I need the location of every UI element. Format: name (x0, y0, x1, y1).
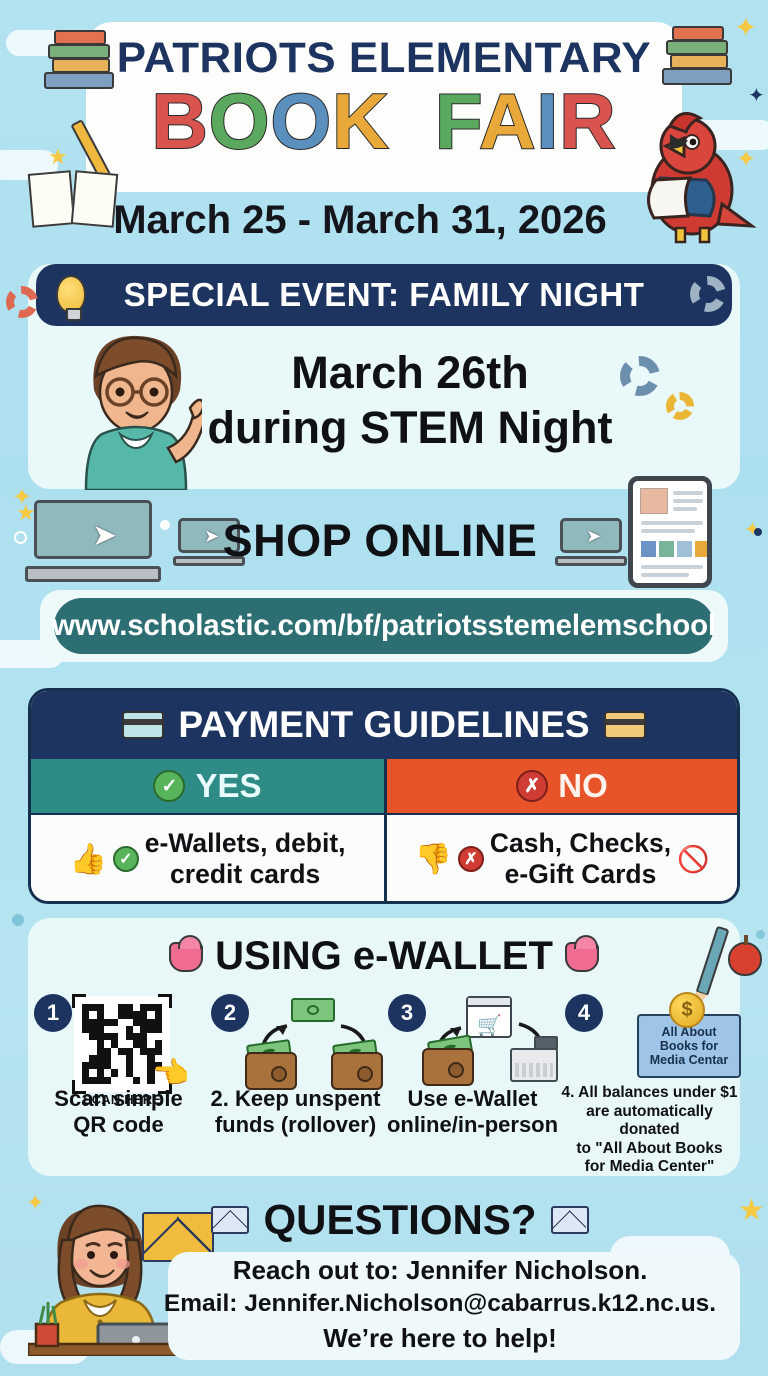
x-circle-icon: ✗ (458, 846, 484, 872)
sparkle-icon: ★ (738, 1196, 765, 1226)
payment-no-column: ✗ NO 👎 ✗ Cash, Checks, e-Gift Cards 🚫 (384, 759, 737, 903)
step-caption: Scan simple QR code (30, 1086, 207, 1138)
contact-line-2[interactable]: Email: Jennifer.Nicholson@cabarrus.k12.n… (150, 1287, 730, 1321)
lightbulb-icon (56, 275, 86, 313)
book-fair-letter: A (479, 77, 536, 165)
shop-url-link[interactable]: www.scholastic.com/bf/patriotsstemelemsc… (54, 598, 714, 654)
payment-guidelines-label: PAYMENT GUIDELINES (178, 704, 589, 746)
book-fair-letter: K (332, 77, 389, 165)
envelope-icon (551, 1206, 589, 1234)
book-fair-letter: F (435, 77, 479, 165)
step-caption: 2. Keep unspent funds (rollover) (207, 1086, 384, 1138)
book-fair-letter: B (151, 77, 208, 165)
wallet-icon (245, 1052, 297, 1090)
gear-icon (620, 356, 660, 396)
book-fair-letter: O (209, 77, 271, 165)
wallet-icon (422, 1048, 474, 1086)
ewallet-title-row: USING e-WALLET (28, 934, 740, 979)
dot-decoration (754, 528, 762, 536)
cardinal-mascot-icon (626, 108, 756, 248)
dot-decoration (12, 914, 24, 926)
step-illustration: $ All About Books for Media Centar (595, 996, 735, 1082)
ewallet-title: USING e-WALLET (215, 934, 553, 979)
credit-card-icon (604, 711, 646, 739)
student-illustration (72, 330, 202, 490)
gear-icon (6, 286, 38, 318)
sparkle-icon: ✦ (748, 86, 765, 106)
wallet-icon (331, 1052, 383, 1090)
ewallet-step: 1 SCAN HERE 👈 Scan simple QR code (30, 994, 207, 1169)
special-event-details: March 26th during STEM Night (190, 345, 630, 455)
envelope-icon (211, 1206, 249, 1234)
special-event-line2: during STEM Night (190, 400, 630, 455)
book-fair-letter (389, 77, 434, 165)
book-fair-letter: O (270, 77, 332, 165)
ewallet-step: 2 2. Keep unspent funds (rollover) (207, 994, 384, 1169)
step-caption: 4. All balances under $1 are automatical… (561, 1084, 738, 1177)
step-caption: Use e-Wallet online/in-person (384, 1086, 561, 1138)
ewallet-step: 4 $ All About Books for Media Centar 4. … (561, 994, 738, 1169)
laptop-icon: ➤ (34, 500, 152, 582)
payment-yes-column: ✓ YES 👍 ✓ e-Wallets, debit, credit cards (31, 759, 384, 903)
dot-decoration (14, 531, 27, 544)
book-fair-title: BOOK FAIR (86, 82, 682, 160)
ewallet-steps: 1 SCAN HERE 👈 Scan simple QR code 2 (30, 994, 738, 1169)
credit-card-icon (122, 711, 164, 739)
tablet-icon (628, 476, 712, 588)
payment-no-label: NO (558, 767, 608, 805)
step-number-badge: 1 (34, 994, 72, 1032)
payment-yes-body: 👍 ✓ e-Wallets, debit, credit cards (31, 815, 384, 903)
dot-decoration (756, 930, 765, 939)
contact-line-3: We’re here to help! (150, 1321, 730, 1355)
purse-icon (169, 942, 203, 972)
coin-icon: $ (669, 992, 705, 1028)
special-event-line1: March 26th (190, 345, 630, 400)
shop-online-title: SHOP ONLINE (180, 515, 580, 567)
book-fair-letter: R (559, 77, 616, 165)
purse-icon (565, 942, 599, 972)
questions-title: QUESTIONS? (263, 1196, 536, 1244)
sparkle-icon: ★ (16, 502, 36, 524)
special-event-label: SPECIAL EVENT: FAMILY NIGHT (124, 276, 645, 314)
payment-yes-items: e-Wallets, debit, credit cards (145, 828, 346, 890)
payment-no-body: 👎 ✗ Cash, Checks, e-Gift Cards 🚫 (387, 815, 737, 903)
online-store-icon: 🛒 (466, 996, 512, 1038)
payment-yes-header: ✓ YES (31, 759, 384, 815)
payment-no-items: Cash, Checks, e-Gift Cards (490, 828, 671, 890)
sparkle-icon: ✦ (734, 14, 757, 42)
page-title: PATRIOTS ELEMENTARY (80, 34, 688, 83)
book-fair-letter: I (537, 77, 560, 165)
cash-register-icon (510, 1048, 558, 1082)
check-circle-icon: ✓ (153, 770, 185, 802)
x-circle-icon: ✗ (516, 770, 548, 802)
payment-yes-label: YES (195, 767, 261, 805)
thumbs-up-icon: 👍 (69, 844, 106, 875)
money-icon (291, 998, 335, 1022)
contact-line-1: Reach out to: Jennifer Nicholson. (150, 1253, 730, 1287)
payment-guidelines-header: PAYMENT GUIDELINES (31, 691, 737, 759)
special-event-band: SPECIAL EVENT: FAMILY NIGHT (36, 264, 732, 326)
payment-guidelines-panel: PAYMENT GUIDELINES ✓ YES 👍 ✓ e-Wallets, … (28, 688, 740, 904)
sparkle-icon: ★ (48, 146, 68, 168)
thumbs-down-icon: 👎 (415, 844, 452, 875)
gear-icon (690, 276, 726, 312)
book-fair-flyer: ✦ ✦ ✦ ★ ✦ ★ ✦ ★ ✦ PATRIOTS ELEMENTARY BO… (0, 0, 768, 1376)
dot-decoration (160, 520, 170, 530)
step-illustration (241, 996, 381, 1082)
fair-dates: March 25 - March 31, 2026 (60, 198, 660, 243)
questions-title-row: QUESTIONS? (150, 1196, 650, 1244)
step-illustration: 🛒 (418, 996, 558, 1082)
questions-contact: Reach out to: Jennifer Nicholson. Email:… (150, 1253, 730, 1355)
payment-no-header: ✗ NO (387, 759, 737, 815)
gear-icon (666, 392, 694, 420)
no-gift-card-icon: 🚫 (677, 844, 709, 875)
check-circle-icon: ✓ (113, 846, 139, 872)
apple-icon (728, 942, 762, 976)
ewallet-step: 3 🛒 Use e-Wallet online/ (384, 994, 561, 1169)
